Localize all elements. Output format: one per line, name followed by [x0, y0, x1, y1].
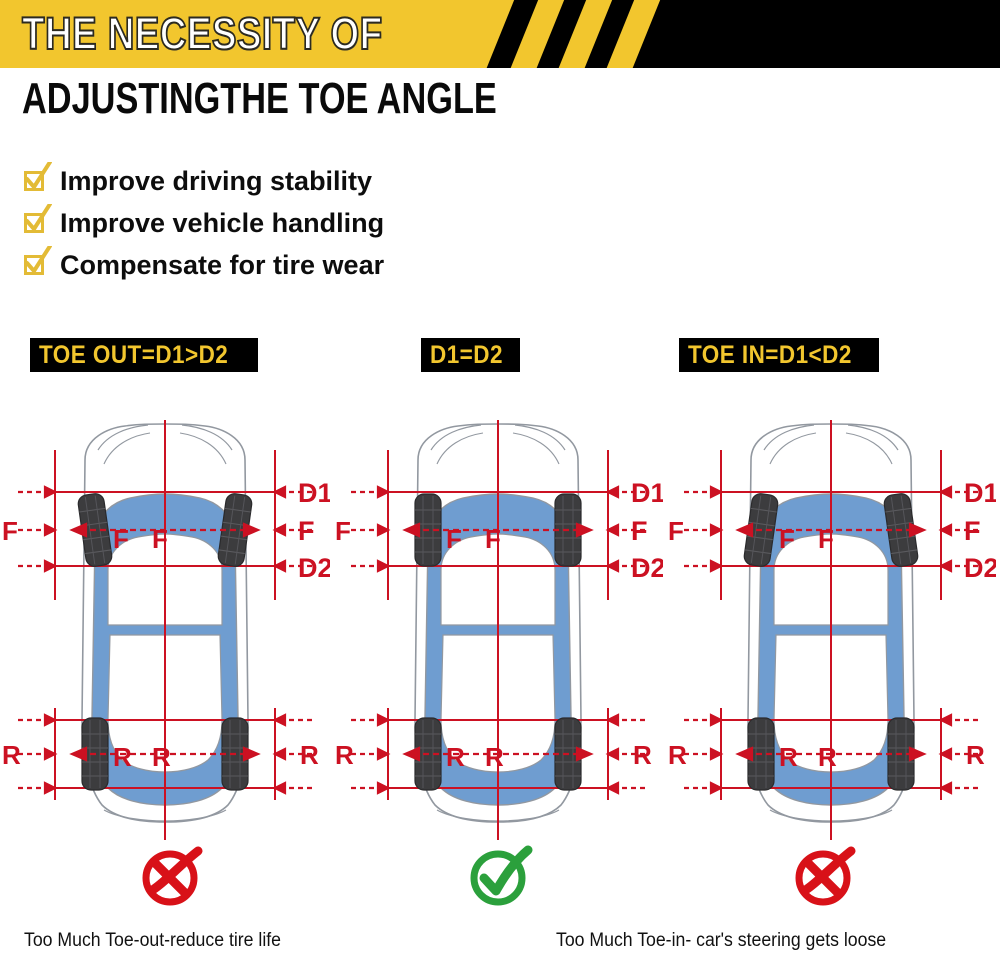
car-top-view-toe-out: F F F R R R R D1 F D2	[0, 420, 330, 840]
label-rear-outer-left: R	[335, 740, 354, 770]
label-front-inner-right: F	[485, 524, 501, 554]
label-front-inner-right: F	[818, 524, 834, 554]
banner-stripe-3	[598, 0, 668, 68]
label-rear-inner-right: R	[485, 742, 504, 772]
status-valid-icon	[468, 845, 536, 909]
label-f-right: F	[631, 516, 648, 546]
status-invalid-icon	[793, 845, 861, 909]
diagram-badge-neutral: D1=D2	[421, 338, 520, 372]
checkbox-checked-icon	[22, 168, 48, 194]
label-rear-inner-right: R	[818, 742, 837, 772]
label-front-inner-left: F	[446, 524, 462, 554]
checkbox-checked-icon	[22, 210, 48, 236]
label-d2: D2	[631, 553, 663, 583]
label-rear-inner-left: R	[113, 742, 132, 772]
benefits-checklist: Improve driving stability Improve vehicl…	[22, 160, 384, 286]
label-front-outer-left: F	[335, 516, 351, 546]
diagram-neutral: F F F R R R R D1 F D2	[333, 420, 663, 840]
label-front-outer-left: F	[2, 516, 18, 546]
caption-toe-out: Too Much Toe-out-reduce tire life	[24, 930, 281, 952]
diagram-toe-out: F F F R R R R D1 F D2	[0, 420, 330, 840]
checklist-item-label: Improve driving stability	[60, 166, 372, 197]
list-item: Improve driving stability	[22, 160, 384, 202]
label-f-right: F	[298, 516, 315, 546]
label-d1: D1	[631, 478, 663, 508]
badge-text: TOE IN=D1<D2	[688, 338, 852, 372]
caption-toe-in: Too Much Toe-in- car's steering gets loo…	[556, 930, 886, 952]
car-top-view-neutral: F F F R R R R D1 F D2	[333, 420, 663, 840]
label-front-inner-left: F	[779, 524, 795, 554]
checklist-item-label: Improve vehicle handling	[60, 208, 384, 239]
diagram-badge-toe-out: TOE OUT=D1>D2	[30, 338, 258, 372]
label-d1: D1	[298, 478, 330, 508]
label-rear-inner-left: R	[779, 742, 798, 772]
label-d2: D2	[298, 553, 330, 583]
badge-text: TOE OUT=D1>D2	[39, 338, 228, 372]
label-rear-outer-right: R	[300, 740, 319, 770]
label-d1: D1	[964, 478, 996, 508]
diagram-toe-in: F F F R R R R D1 F D2	[666, 420, 996, 840]
header-subtitle: ADJUSTINGTHE TOE ANGLE	[22, 74, 497, 124]
label-rear-outer-left: R	[668, 740, 687, 770]
label-rear-inner-right: R	[152, 742, 171, 772]
label-rear-outer-left: R	[2, 740, 21, 770]
header-banner: THE NECESSITY OF	[0, 0, 1000, 68]
checklist-item-label: Compensate for tire wear	[60, 250, 384, 281]
diagram-badge-toe-in: TOE IN=D1<D2	[679, 338, 879, 372]
label-front-outer-left: F	[668, 516, 684, 546]
label-rear-outer-right: R	[966, 740, 985, 770]
label-rear-inner-left: R	[446, 742, 465, 772]
header-title: THE NECESSITY OF	[22, 8, 383, 60]
label-front-inner-right: F	[152, 524, 168, 554]
badge-text: D1=D2	[430, 338, 503, 372]
list-item: Improve vehicle handling	[22, 202, 384, 244]
status-invalid-icon	[140, 845, 208, 909]
label-rear-outer-right: R	[633, 740, 652, 770]
label-front-inner-left: F	[113, 524, 129, 554]
car-top-view-toe-in: F F F R R R R D1 F D2	[666, 420, 996, 840]
checkbox-checked-icon	[22, 252, 48, 278]
list-item: Compensate for tire wear	[22, 244, 384, 286]
label-d2: D2	[964, 553, 996, 583]
label-f-right: F	[964, 516, 981, 546]
